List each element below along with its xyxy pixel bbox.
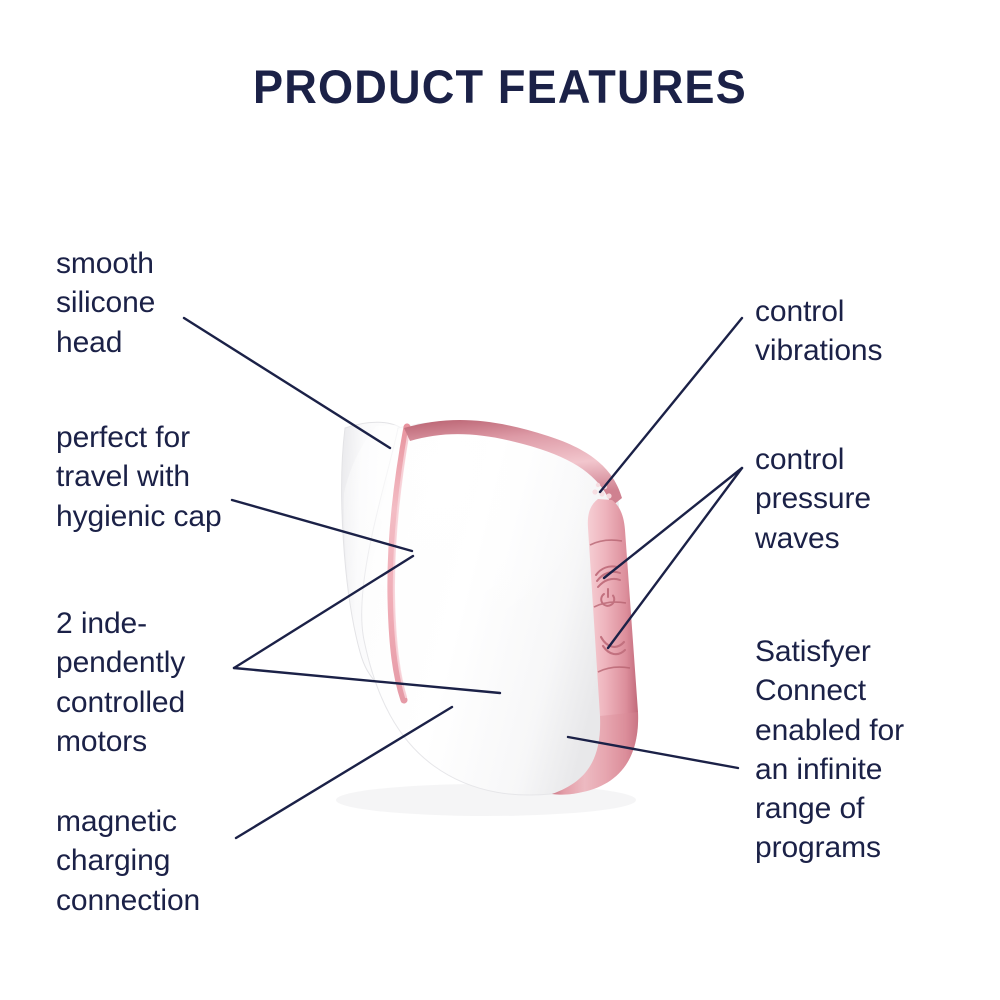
leader-magnetic-charging: [236, 707, 452, 838]
leader-travel-hygienic-cap: [232, 500, 412, 551]
leader-lines: [0, 0, 1000, 1000]
leader-smooth-silicone-head: [184, 318, 390, 448]
leader-two-motors-lower: [234, 668, 500, 693]
leader-two-motors-upper: [234, 556, 413, 668]
diagram-canvas: PRODUCT FEATURES: [0, 0, 1000, 1000]
leader-control-vibrations: [600, 318, 742, 492]
leader-satisfyer-connect: [568, 737, 738, 768]
